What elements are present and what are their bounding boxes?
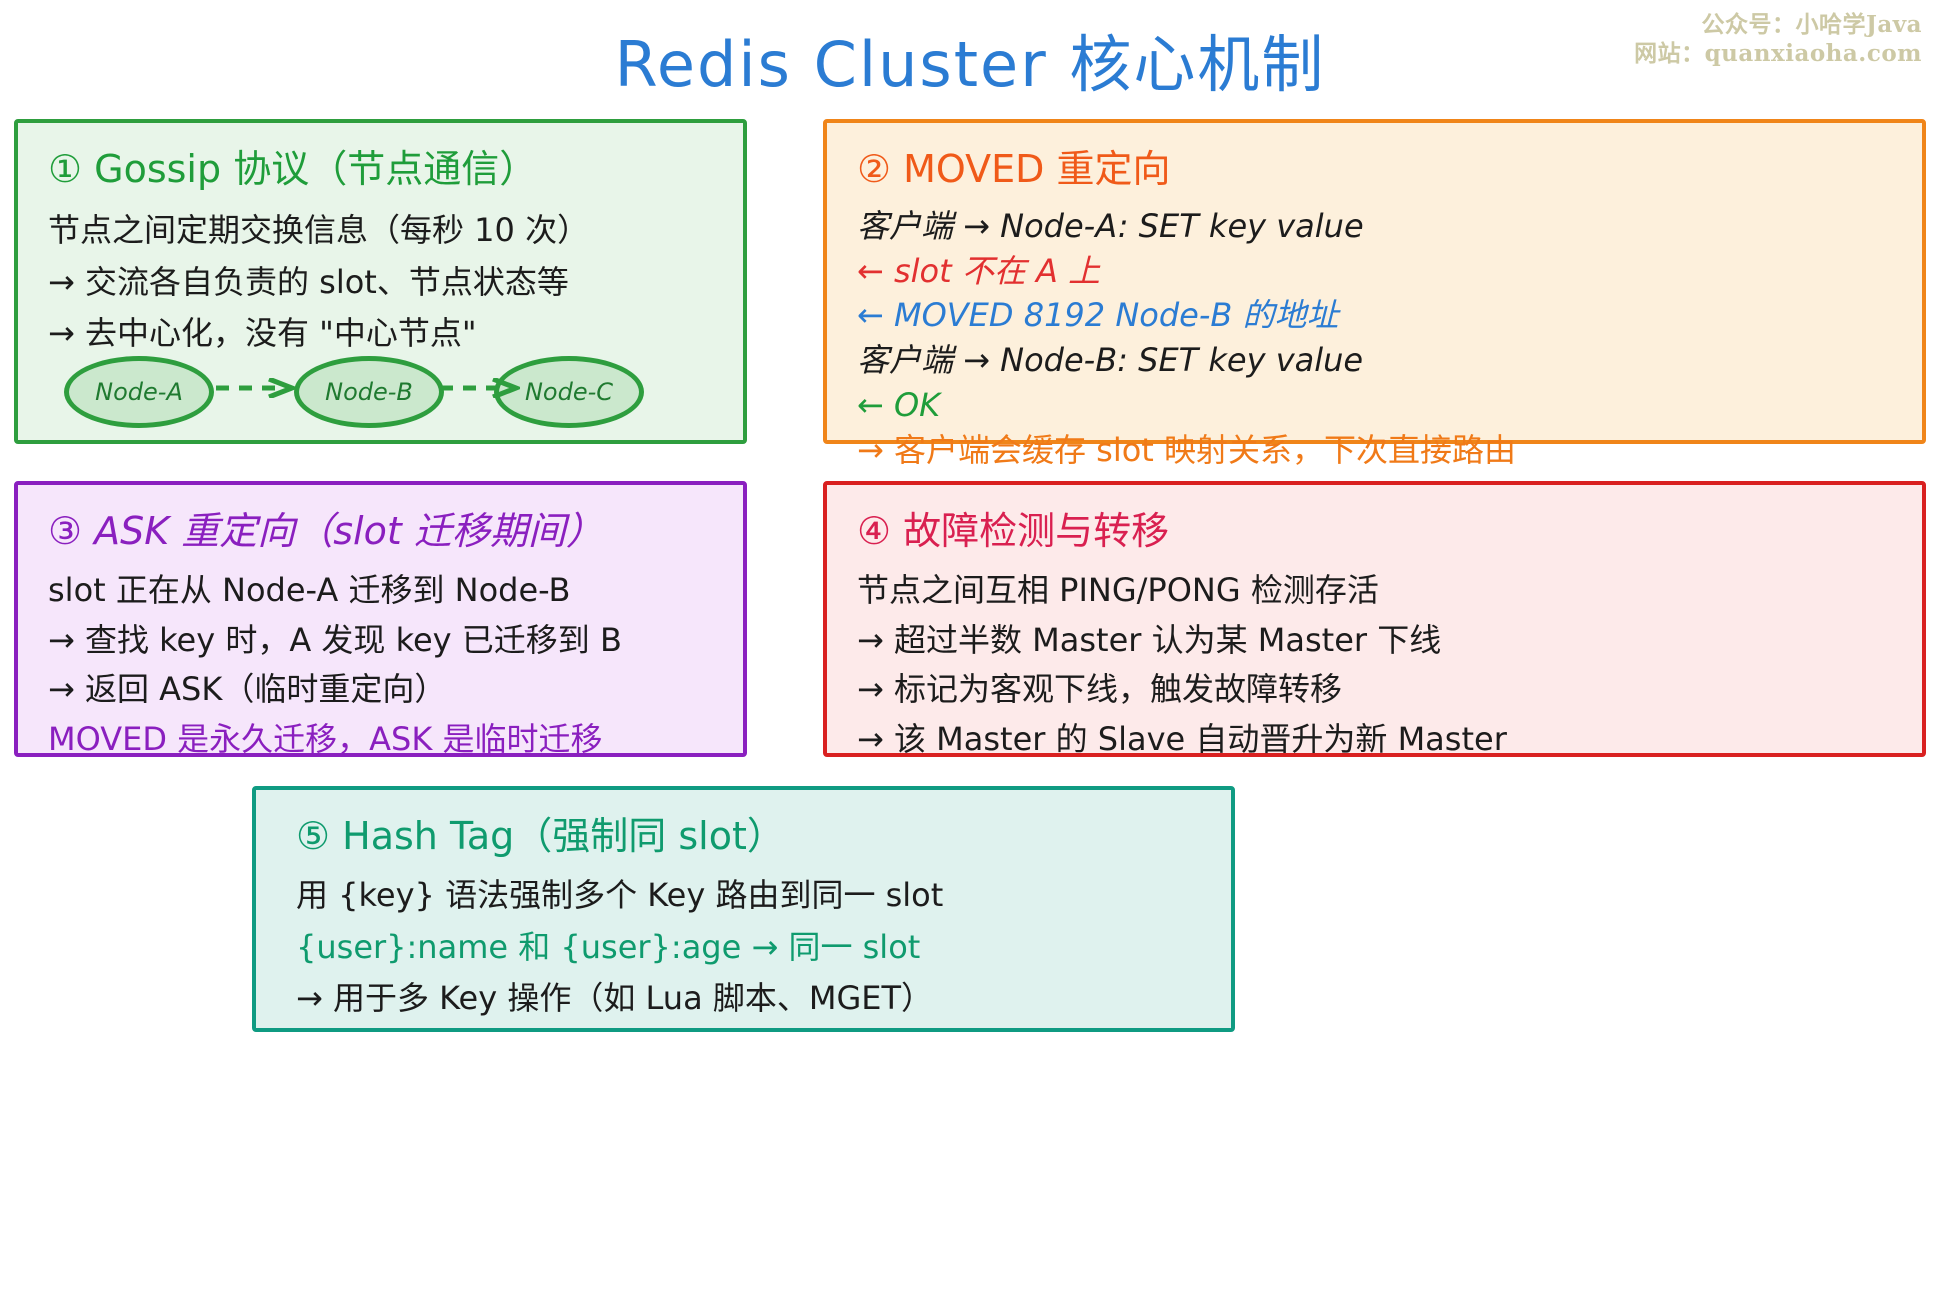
card-hashtag-line-2: {user}:name 和 {user}:age → 同一 slot: [296, 930, 1201, 966]
card-gossip-line-3: → 去中心化，没有 "中心节点": [48, 316, 713, 352]
card-moved-title: ② MOVED 重定向: [857, 149, 1892, 191]
watermark-line-2: 网站：quanxiaoha.com: [1634, 39, 1922, 68]
node-ellipse-b: Node-B: [294, 356, 444, 428]
card-moved-redirect: ② MOVED 重定向 客户端 → Node-A: SET key value …: [823, 119, 1926, 444]
dashed-arrow-icon: [214, 378, 296, 398]
card-ask-line-4: MOVED 是永久迁移，ASK 是临时迁移: [48, 722, 713, 758]
card-ask-line-2: → 查找 key 时，A 发现 key 已迁移到 B: [48, 623, 713, 659]
card-hash-tag: ⑤ Hash Tag（强制同 slot） 用 {key} 语法强制多个 Key …: [252, 786, 1235, 1032]
card-ask-redirect: ③ ASK 重定向（slot 迁移期间） slot 正在从 Node-A 迁移到…: [14, 481, 747, 757]
card-failure-detection: ④ 故障检测与转移 节点之间互相 PING/PONG 检测存活 → 超过半数 M…: [823, 481, 1926, 757]
card-ask-title: ③ ASK 重定向（slot 迁移期间）: [48, 511, 713, 553]
watermark: 公众号：小哈学Java 网站：quanxiaoha.com: [1634, 10, 1922, 69]
node-ellipse-a: Node-A: [64, 356, 214, 428]
card-gossip-line-1: 节点之间定期交换信息（每秒 10 次）: [48, 213, 713, 249]
card-hashtag-line-1: 用 {key} 语法强制多个 Key 路由到同一 slot: [296, 878, 1201, 914]
dashed-arrow-icon: [438, 378, 520, 398]
card-moved-line-3: ← MOVED 8192 Node-B 的地址: [857, 298, 1892, 334]
card-moved-line-5: ← OK: [857, 388, 1892, 424]
card-failover-line-3: → 标记为客观下线，触发故障转移: [857, 672, 1892, 708]
card-ask-line-3: → 返回 ASK（临时重定向）: [48, 672, 713, 708]
card-failover-title: ④ 故障检测与转移: [857, 511, 1892, 553]
card-moved-line-2: ← slot 不在 A 上: [857, 254, 1892, 290]
card-failover-line-1: 节点之间互相 PING/PONG 检测存活: [857, 573, 1892, 609]
card-gossip-protocol: ① Gossip 协议（节点通信） 节点之间定期交换信息（每秒 10 次） → …: [14, 119, 747, 444]
card-ask-line-1: slot 正在从 Node-A 迁移到 Node-B: [48, 573, 713, 609]
card-failover-line-4: → 该 Master 的 Slave 自动晋升为新 Master: [857, 722, 1892, 758]
gossip-node-diagram: Node-A Node-B Node-C: [46, 352, 726, 426]
card-failover-line-2: → 超过半数 Master 认为某 Master 下线: [857, 623, 1892, 659]
watermark-line-1: 公众号：小哈学Java: [1634, 10, 1922, 39]
card-gossip-line-2: → 交流各自负责的 slot、节点状态等: [48, 265, 713, 301]
card-hashtag-title: ⑤ Hash Tag（强制同 slot）: [296, 816, 1201, 858]
card-moved-line-1: 客户端 → Node-A: SET key value: [857, 209, 1892, 245]
card-hashtag-line-3: → 用于多 Key 操作（如 Lua 脚本、MGET）: [296, 981, 1201, 1017]
card-gossip-title: ① Gossip 协议（节点通信）: [48, 149, 713, 191]
card-moved-line-4: 客户端 → Node-B: SET key value: [857, 343, 1892, 379]
card-moved-line-6: → 客户端会缓存 slot 映射关系，下次直接路由: [857, 433, 1892, 469]
